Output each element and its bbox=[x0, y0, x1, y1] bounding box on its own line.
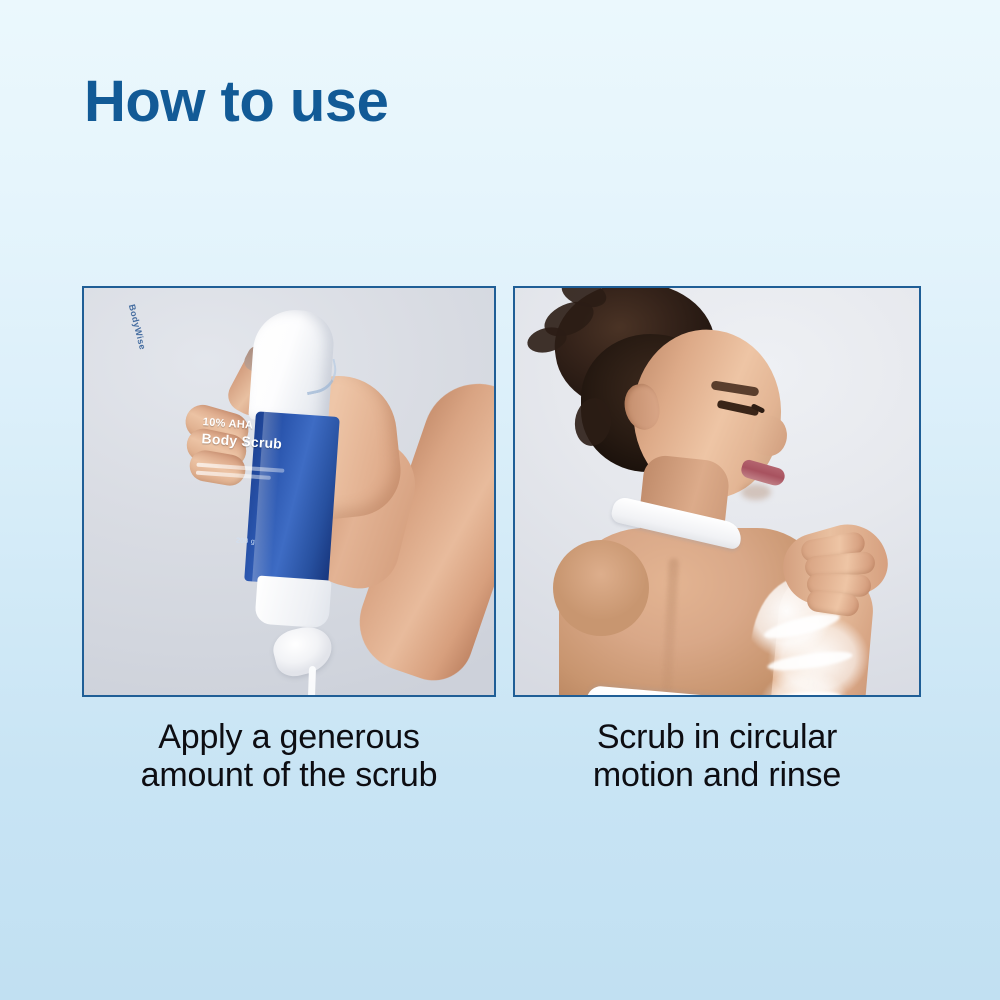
step-1-photo-frame[interactable]: BodyWise 10% AHA Body Scrub 200 g bbox=[82, 286, 496, 697]
brand-swoosh-icon bbox=[301, 359, 340, 395]
step-1-caption-line-2: amount of the scrub bbox=[82, 756, 496, 794]
step-2-caption: Scrub in circular motion and rinse bbox=[513, 718, 921, 794]
tube-nozzle bbox=[254, 575, 331, 628]
product-net-weight-label: 200 g bbox=[236, 537, 255, 545]
step-2-caption-line-2: motion and rinse bbox=[513, 756, 921, 794]
step-1-photo: BodyWise 10% AHA Body Scrub 200 g bbox=[84, 288, 494, 695]
fine-print-line bbox=[196, 471, 271, 480]
step-2-photo-frame[interactable] bbox=[513, 286, 921, 697]
step-2-caption-line-1: Scrub in circular bbox=[513, 718, 921, 756]
chin-shadow bbox=[741, 484, 771, 500]
step-2-photo bbox=[515, 288, 919, 695]
how-to-use-steps: BodyWise 10% AHA Body Scrub 200 g bbox=[0, 0, 1000, 1000]
step-1-caption-line-1: Apply a generous bbox=[82, 718, 496, 756]
left-shoulder bbox=[553, 540, 649, 636]
step-1-caption: Apply a generous amount of the scrub bbox=[82, 718, 496, 794]
